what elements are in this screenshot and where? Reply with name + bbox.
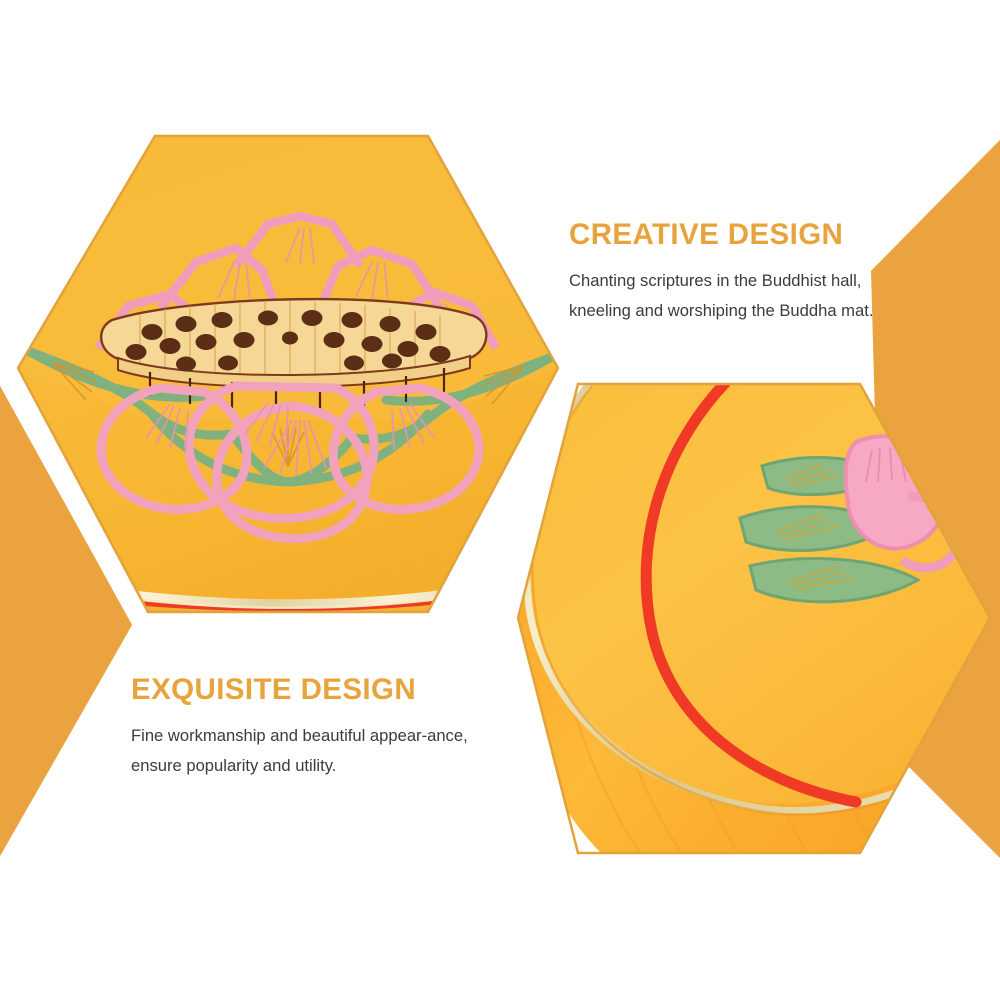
feature-exquisite-design: EXQUISITE DESIGN Fine workmanship and be… — [131, 673, 481, 781]
closeup-photo-content — [500, 370, 1000, 870]
hexagon-closeup-photo — [500, 370, 1000, 870]
hexagon-photo-content — [0, 120, 580, 640]
product-feature-banner: CREATIVE DESIGN Chanting scriptures in t… — [0, 0, 1000, 1000]
feature-creative-design: CREATIVE DESIGN Chanting scriptures in t… — [569, 218, 899, 326]
hexagon-top-view-photo — [0, 120, 580, 640]
feature-body-exquisite: Fine workmanship and beautiful appear-an… — [131, 721, 481, 781]
feature-title-creative: CREATIVE DESIGN — [569, 218, 899, 252]
feature-body-creative: Chanting scriptures in the Buddhist hall… — [569, 266, 899, 326]
feature-title-exquisite: EXQUISITE DESIGN — [131, 673, 481, 707]
